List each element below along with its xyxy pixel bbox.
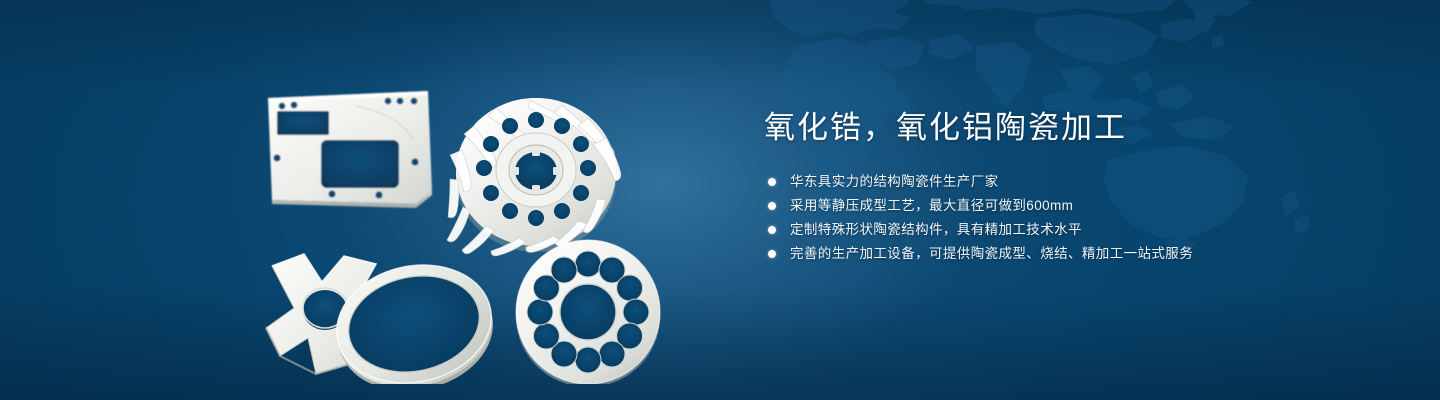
product-photo-group [236, 44, 698, 384]
bullet-dot-icon [768, 178, 776, 186]
list-item-label: 完善的生产加工设备，可提供陶瓷成型、烧结、精加工一站式服务 [790, 246, 1193, 261]
list-item-label: 定制特殊形状陶瓷结构件，具有精加工技术水平 [790, 222, 1082, 237]
list-item: 采用等静压成型工艺，最大直径可做到600mm [768, 198, 1384, 214]
ceramic-plate-part [268, 91, 432, 208]
page-title: 氧化锆，氧化铝陶瓷加工 [764, 106, 1384, 150]
bullet-dot-icon [768, 226, 776, 234]
ceramic-impeller-part [447, 98, 621, 256]
list-item-label: 采用等静压成型工艺，最大直径可做到600mm [790, 198, 1073, 213]
list-item: 华东具实力的结构陶瓷件生产厂家 [768, 174, 1384, 190]
feature-list: 华东具实力的结构陶瓷件生产厂家 采用等静压成型工艺，最大直径可做到600mm 定… [768, 174, 1384, 262]
ceramic-perforated-disc-part [516, 240, 660, 384]
bullet-dot-icon [768, 202, 776, 210]
banner-copy: 氧化锆，氧化铝陶瓷加工 华东具实力的结构陶瓷件生产厂家 采用等静压成型工艺，最大… [764, 106, 1384, 270]
list-item-label: 华东具实力的结构陶瓷件生产厂家 [790, 174, 999, 189]
list-item: 定制特殊形状陶瓷结构件，具有精加工技术水平 [768, 222, 1384, 238]
hero-banner: 氧化锆，氧化铝陶瓷加工 华东具实力的结构陶瓷件生产厂家 采用等静压成型工艺，最大… [0, 0, 1440, 400]
bullet-dot-icon [768, 250, 776, 258]
list-item: 完善的生产加工设备，可提供陶瓷成型、烧结、精加工一站式服务 [768, 246, 1384, 262]
